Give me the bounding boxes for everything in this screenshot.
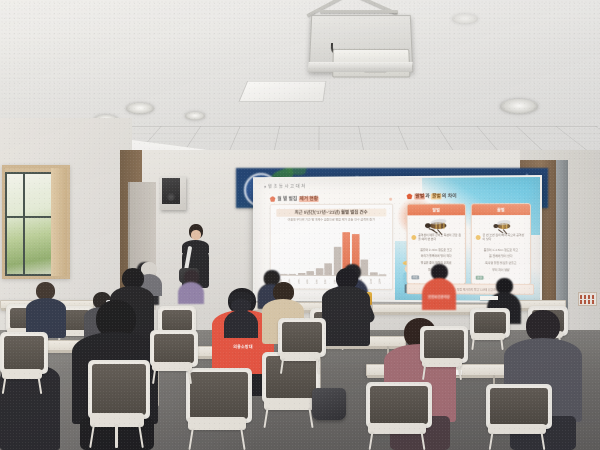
warning-bullet-icon bbox=[411, 235, 416, 240]
chart-subtitle: 여름철 무더위 기간 벌 개체수 급증으로 벌집 제거 출동 건수 급격히 증가 bbox=[276, 217, 386, 221]
honeybee-illustration bbox=[484, 218, 518, 232]
honeybee-line-2: 몸 전체에 털이 많다 bbox=[476, 255, 526, 259]
honeybee-card: 꿀벌 한 번 쏘면 침이 빠져 죽으며 공격성이 낮다 bbox=[471, 203, 531, 285]
x-tick-11월: 11월 bbox=[370, 277, 378, 287]
paper-handout[interactable] bbox=[480, 296, 498, 300]
attendee-red-volunteer-2: 안전보건관리단 bbox=[422, 264, 456, 312]
chair[interactable] bbox=[420, 326, 464, 380]
bullet-icon bbox=[264, 186, 266, 188]
hornet-note: 공격성이 매우 강하고 독성이 강한 침을 여러 번 쏜다 bbox=[411, 234, 461, 242]
honeybee-line-1: 몸길이 1~1.5cm 정도로 작고 bbox=[476, 249, 526, 253]
chart-title: 최근 5년간(’17년~’21년) 월별 벌집 건수 bbox=[276, 209, 386, 217]
x-tick-12월: 12월 bbox=[379, 277, 387, 287]
window bbox=[2, 165, 70, 279]
window-mullion bbox=[23, 174, 25, 274]
downlight-icon bbox=[500, 99, 538, 114]
slide-right-section-title: 말벌과 꿀벌의 차이 bbox=[414, 192, 456, 199]
downlight-icon bbox=[452, 14, 478, 24]
hornet-tag: 주의 bbox=[411, 275, 419, 279]
projector-housing-lip bbox=[307, 62, 412, 72]
chair[interactable] bbox=[486, 384, 548, 450]
hornet-icon bbox=[270, 196, 276, 202]
honeybee-card-header: 꿀벌 bbox=[472, 204, 530, 215]
chair[interactable] bbox=[0, 332, 44, 394]
downlight-icon bbox=[185, 112, 205, 120]
attendee-cap-center bbox=[224, 292, 258, 338]
speaker-grille bbox=[162, 178, 180, 204]
hornet-note-text: 공격성이 매우 강하고 독성이 강한 침을 여러 번 쏜다 bbox=[418, 234, 461, 242]
bee-icon bbox=[407, 193, 413, 199]
slide-right-section-head: 말벌과 꿀벌의 차이 bbox=[407, 192, 457, 199]
slide-left-section-title: 월 별 벌집 제거 현황 bbox=[277, 195, 319, 202]
wall-sign-plaque bbox=[578, 292, 597, 306]
hornet-card-header: 말벌 bbox=[408, 204, 465, 215]
window-mullion bbox=[7, 216, 51, 218]
chair[interactable] bbox=[88, 360, 146, 448]
honeybee-card-title: 꿀벌 bbox=[472, 204, 530, 215]
honeybee-line-3: 육각형 밀랍 벌집을 만들고 bbox=[476, 262, 526, 266]
speaker-cone-icon bbox=[167, 193, 175, 201]
slide-kicker: 벌 초 등 사 고 대 처 bbox=[264, 184, 305, 190]
hornet-line-1: 몸길이 2~4cm 정도로 크고 bbox=[411, 249, 461, 253]
chair[interactable] bbox=[186, 368, 248, 450]
info-bullet-icon bbox=[476, 235, 481, 240]
hornet-line-2: 허리가 잘록하며 털이 적다 bbox=[411, 255, 461, 259]
honeybee-note: 한 번 쏘면 침이 빠져 죽으며 공격성이 낮다 bbox=[476, 234, 526, 242]
chair[interactable] bbox=[150, 330, 194, 384]
honeybee-note-text: 한 번 쏘면 침이 빠져 죽으며 공격성이 낮다 bbox=[483, 234, 526, 242]
chair[interactable] bbox=[278, 318, 322, 374]
chair[interactable] bbox=[470, 308, 506, 350]
ceiling-flat-light-panel bbox=[238, 81, 326, 102]
wall-speaker bbox=[160, 176, 186, 210]
projector-bracket bbox=[320, 10, 398, 13]
window-jamb bbox=[51, 168, 67, 276]
downlight-icon bbox=[126, 103, 154, 114]
shirt-text: 안전보건관리단 bbox=[422, 294, 456, 299]
honeybee-tag: 안전 bbox=[476, 276, 484, 280]
hornet-card-title: 말벌 bbox=[408, 204, 465, 215]
chair[interactable] bbox=[366, 382, 428, 450]
ceiling-projector bbox=[300, 0, 418, 78]
hornet-illustration bbox=[420, 218, 453, 232]
classroom-seminar-photo: 축 Live Here 벌 초 등 사 고 대 처 월 별 벌집 제거 현황 bbox=[0, 0, 600, 450]
backpack-on-floor[interactable] bbox=[312, 388, 346, 420]
window-glass bbox=[5, 172, 53, 276]
attendee-black-center bbox=[322, 268, 370, 346]
x-tick-4월: 4월 bbox=[307, 276, 314, 286]
slide-left-section-head: 월 별 벌집 제거 현황 bbox=[270, 195, 319, 202]
honeybee-line-4: 무리 지어 생활 bbox=[476, 269, 526, 273]
attendee-purple-back bbox=[178, 270, 204, 306]
attendee-navy-left bbox=[26, 282, 66, 338]
slide-kicker-text: 벌 초 등 사 고 대 처 bbox=[268, 184, 305, 190]
